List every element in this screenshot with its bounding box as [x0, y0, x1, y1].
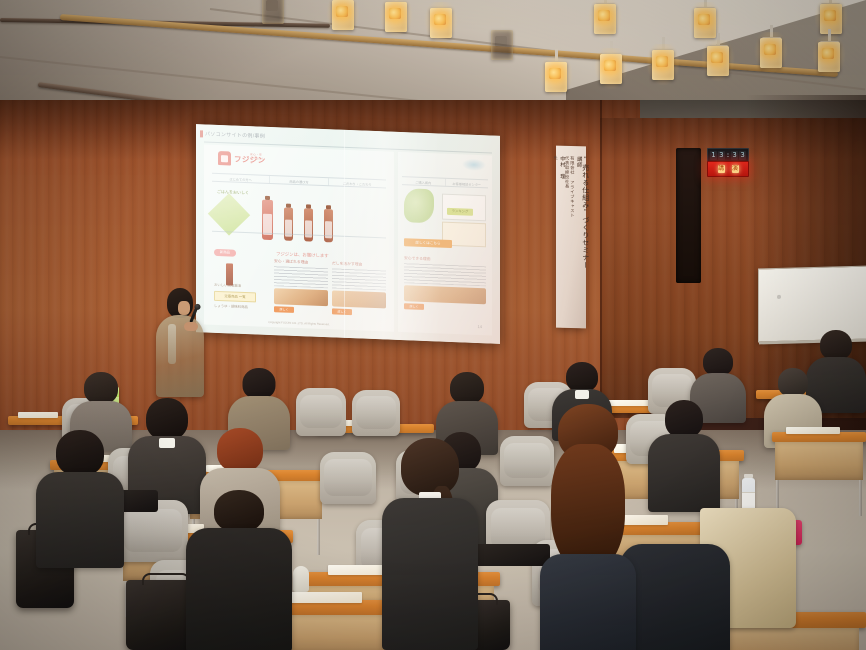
feature-heading: だしを活かす理由 — [332, 261, 386, 268]
feature-photo — [404, 285, 486, 304]
nav-item: はじめての方へ — [212, 174, 270, 183]
feature-tag: 詳しく — [332, 308, 352, 315]
shirt-collar — [159, 438, 175, 448]
head — [84, 372, 118, 404]
track-spotlight-icon — [760, 38, 782, 68]
handout-paper — [786, 427, 840, 434]
attendee-front-black — [186, 490, 292, 650]
screen-panel-seam — [344, 130, 345, 338]
product-bottle — [324, 209, 333, 242]
banner-company: 有限会社 アライブキャスト — [570, 156, 574, 306]
attendee-mid-right — [648, 400, 720, 504]
banner-role: 代表取締役社長 — [565, 156, 569, 306]
head — [243, 368, 276, 399]
torso — [648, 434, 720, 512]
ranking-button: ランキング — [447, 208, 473, 216]
presenter-face — [178, 301, 190, 315]
wall-speaker-panel — [676, 148, 701, 283]
torso — [186, 528, 292, 650]
feature-column: 安心できる理由 詳しく — [404, 256, 486, 312]
projection-screen: パソコンサイトの例/事例 安心・安全・おいしさ フジジン はじめての方へ 商品の… — [196, 124, 500, 344]
head — [703, 348, 733, 376]
sign-character: 講 — [718, 165, 725, 173]
new-badge: 新商品 — [214, 249, 236, 257]
torso — [620, 544, 730, 650]
clock-digit: 3 — [731, 151, 738, 160]
attendee-right-longhair — [540, 404, 636, 650]
head — [401, 438, 459, 496]
nav-item: こだわり・こだわり — [329, 178, 386, 187]
head — [217, 428, 263, 472]
ranking-panel: ランキング — [442, 194, 486, 222]
white-mug — [293, 566, 309, 592]
website-mockup-right: ご購入案内 お客様相談センター ランキング 詳しくはこちら 安心できる理由 詳し… — [398, 152, 492, 336]
head — [450, 372, 484, 404]
promo-note: おいしい減塩醤油 — [214, 282, 266, 289]
track-spotlight-icon — [491, 30, 513, 60]
site-nav-right: ご購入案内 お客様相談センター — [402, 176, 488, 188]
attendee-ponytail-front — [382, 438, 478, 650]
attendee-mid-suit-1 — [128, 398, 206, 504]
feature-columns: 安心・選ばれる理由 詳しく だしを活かす理由 詳しく — [274, 259, 386, 323]
slide-title: パソコンサイトの例/事例 — [205, 131, 265, 140]
torso — [36, 472, 124, 568]
feature-photo — [274, 288, 328, 306]
track-spotlight-icon — [430, 8, 452, 38]
long-hair — [551, 444, 625, 572]
brand-logo: 安心・安全・おいしさ フジジン — [218, 151, 266, 167]
banner-title: "売れる仕組み"づくりセミナー — [582, 156, 589, 306]
track-spotlight-icon — [600, 54, 622, 84]
head — [778, 368, 808, 397]
slide-page-number: 14 — [478, 324, 482, 329]
head — [146, 398, 188, 440]
attendee-front-right — [620, 538, 730, 650]
head — [214, 490, 264, 532]
nav-item: 商品の選び方 — [270, 176, 328, 185]
website-mockup-left: 安心・安全・おいしさ フジジン はじめての方へ 商品の選び方 こだわり・こだわり… — [204, 144, 394, 331]
seminar-banner: "売れる仕組み"づくりセミナー 講師 有限会社 アライブキャスト 代表取締役社長… — [556, 146, 586, 329]
feature-text-lines — [404, 263, 486, 286]
green-diamond-graphic — [208, 193, 250, 235]
seminar-chair — [352, 390, 400, 436]
track-spotlight-icon — [545, 62, 567, 92]
banner-speaker-name: 中村 理 — [559, 156, 564, 306]
shirt-collar — [575, 390, 589, 399]
seminar-chair — [296, 388, 346, 436]
attendee-front-left — [36, 430, 124, 560]
presenter — [152, 288, 208, 396]
feature-column: 安心・選ばれる理由 詳しく — [274, 259, 328, 321]
feature-text-lines — [274, 266, 328, 288]
digital-wall-clock: 1 3 : 3 3 — [707, 148, 749, 162]
fujijin-logo-icon — [218, 151, 231, 165]
track-spotlight-icon — [707, 46, 729, 76]
feature-tag: 詳しく — [404, 303, 424, 310]
slide-content: パソコンサイトの例/事例 安心・安全・おいしさ フジジン はじめての方へ 商品の… — [196, 124, 500, 344]
track-spotlight-icon — [385, 2, 407, 32]
product-bottle — [304, 208, 313, 241]
in-session-sign: 講 演 — [707, 161, 749, 177]
leaf-graphic — [404, 188, 434, 223]
whiteboard-mark — [777, 295, 781, 299]
sidebar-promo: 新商品 おいしい減塩醤油 定番商品 一覧 しょうゆ・調味料商品 — [214, 249, 266, 317]
clock-digit: 3 — [718, 151, 725, 160]
feature-heading: 安心・選ばれる理由 — [274, 259, 328, 266]
head — [820, 330, 852, 360]
promo-note-2: しょうゆ・調味料商品 — [214, 303, 266, 310]
training-desk — [772, 432, 866, 442]
handout-paper — [18, 412, 58, 418]
brand-tagline: 安心・安全・おいしさ — [250, 152, 266, 165]
cta-button: 詳しくはこちら — [404, 238, 452, 248]
swoosh-graphic — [462, 158, 486, 171]
seminar-room-photo: 1 3 : 3 3 講 演 パソコンサイトの例/事例 安心・安全・おいしさ フジ… — [0, 0, 866, 650]
nav-item: お客様相談センター — [446, 179, 489, 188]
clock-digit: 1 — [710, 151, 717, 160]
feature-text-lines — [332, 268, 386, 290]
head — [665, 400, 703, 438]
clock-digit: 3 — [739, 151, 746, 160]
green-label: ごはんをおいしく — [212, 189, 254, 197]
track-spotlight-icon — [694, 8, 716, 38]
torso — [382, 498, 478, 650]
head — [566, 362, 598, 392]
track-spotlight-icon — [262, 0, 284, 24]
torso — [540, 554, 636, 650]
feature-photo — [332, 290, 386, 308]
nav-item: ご購入案内 — [402, 177, 446, 186]
banner-honorific: 氏 — [553, 156, 557, 306]
banner-speaker-label: 講師 — [575, 156, 580, 306]
head — [56, 430, 104, 476]
laptop-case — [118, 490, 158, 512]
track-spotlight-icon — [332, 0, 354, 30]
track-spotlight-icon — [818, 42, 840, 72]
product-bottle — [284, 208, 293, 241]
laptop-case — [472, 544, 550, 566]
feature-column: だしを活かす理由 詳しく — [332, 261, 386, 323]
presenter-shirt — [168, 324, 176, 364]
presenter-hand — [184, 322, 198, 331]
seminar-chair — [320, 452, 376, 504]
sign-character: 演 — [732, 165, 739, 173]
section-heading: フジジンは、お届けします — [276, 251, 329, 259]
product-thumb — [226, 263, 233, 285]
track-spotlight-icon — [594, 4, 616, 34]
track-spotlight-icon — [652, 50, 674, 80]
catalog-button: 定番商品 一覧 — [214, 291, 256, 303]
clock-colon: : — [726, 151, 730, 160]
feature-tag: 詳しく — [274, 306, 294, 313]
